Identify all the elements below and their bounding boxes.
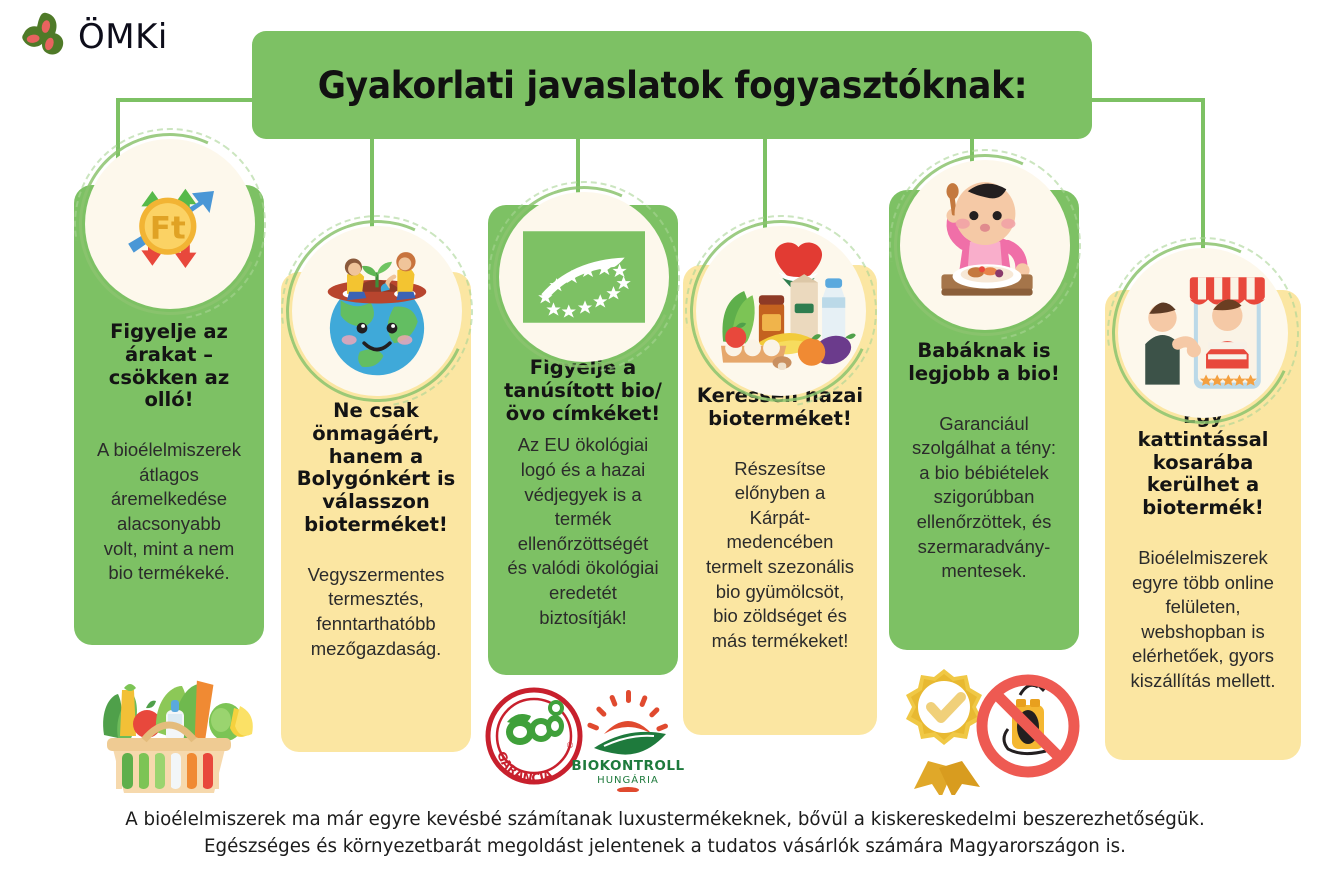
eu-organic-leaf-logo-icon bbox=[499, 192, 669, 362]
svg-text:HUNGÁRIA: HUNGÁRIA bbox=[597, 773, 659, 786]
card-heading: Figyelje az árakat – csökken az olló! bbox=[86, 321, 252, 412]
online-shop-mobile-purchase-icon bbox=[1118, 248, 1288, 418]
card-body-text: Vegyszermentes termesztés, fenntarthatób… bbox=[293, 563, 459, 661]
shopping-basket-vegetables-icon bbox=[74, 650, 264, 800]
card-body-text: Az EU ökológiai logó és a hazai védjegye… bbox=[500, 433, 666, 630]
column-online: Egy kattintással kosarába kerülhet a bio… bbox=[1105, 0, 1301, 883]
column-bolygo: Ne csak önmagáért, hanem a Bolygónkért i… bbox=[281, 0, 471, 883]
icon-bubble bbox=[499, 192, 669, 362]
hungarian-heart-groceries-icon bbox=[696, 226, 866, 396]
card-body-text: Bioélelmiszerek egyre több online felüle… bbox=[1117, 546, 1289, 694]
forint-coin-price-arrows-icon: Ft bbox=[85, 139, 255, 309]
footer-text: A bioélelmiszerek ma már egyre kevésbé s… bbox=[27, 806, 1304, 860]
column-cimke: Figyelje a tanúsított bio/ övo címkéket!… bbox=[488, 0, 678, 883]
three-leaf-clover-icon bbox=[14, 8, 72, 66]
footer-line-1: A bioélelmiszerek ma már egyre kevésbé s… bbox=[27, 806, 1304, 833]
card-heading: Ne csak önmagáért, hanem a Bolygónkért i… bbox=[293, 400, 459, 537]
icon-bubble: Ft bbox=[85, 139, 255, 309]
card-heading: Babáknak is legjobb a bio! bbox=[901, 340, 1067, 386]
icon-bubble bbox=[900, 160, 1070, 330]
baby-eating-meal-icon bbox=[900, 160, 1070, 330]
column-babak: Babáknak is legjobb a bio! Garanciául sz… bbox=[889, 0, 1079, 883]
icon-bubble bbox=[292, 226, 462, 396]
card-body-text: Garanciául szolgálhat a tény: a bio bébi… bbox=[901, 412, 1067, 584]
card-body-text: Részesítse előnyben a Kárpát- medencében… bbox=[695, 457, 865, 654]
card-body-text: A bioélelmiszerek átlagos áremelkedése a… bbox=[86, 438, 252, 586]
column-arak: Figyelje az árakat – csökken az olló! A … bbox=[74, 0, 264, 883]
footer-line-2: Egészséges és környezetbarát megoldást j… bbox=[27, 833, 1304, 860]
quality-rosette-and-no-pesticide-icons bbox=[884, 655, 1084, 795]
icon-bubble bbox=[1118, 248, 1288, 418]
icon-bubble bbox=[696, 226, 866, 396]
svg-text:®: ® bbox=[566, 741, 574, 750]
svg-text:Ft: Ft bbox=[150, 210, 186, 246]
earth-planting-people-icon bbox=[292, 226, 462, 396]
column-hazai: Keressen hazai bioterméket! Részesítse e… bbox=[683, 0, 877, 883]
bio-garancia-biokontroll-logos-icon: GARANCIA ® BIOKONTROL bbox=[482, 682, 684, 792]
svg-text:BIOKONTROLL: BIOKONTROLL bbox=[571, 758, 684, 774]
